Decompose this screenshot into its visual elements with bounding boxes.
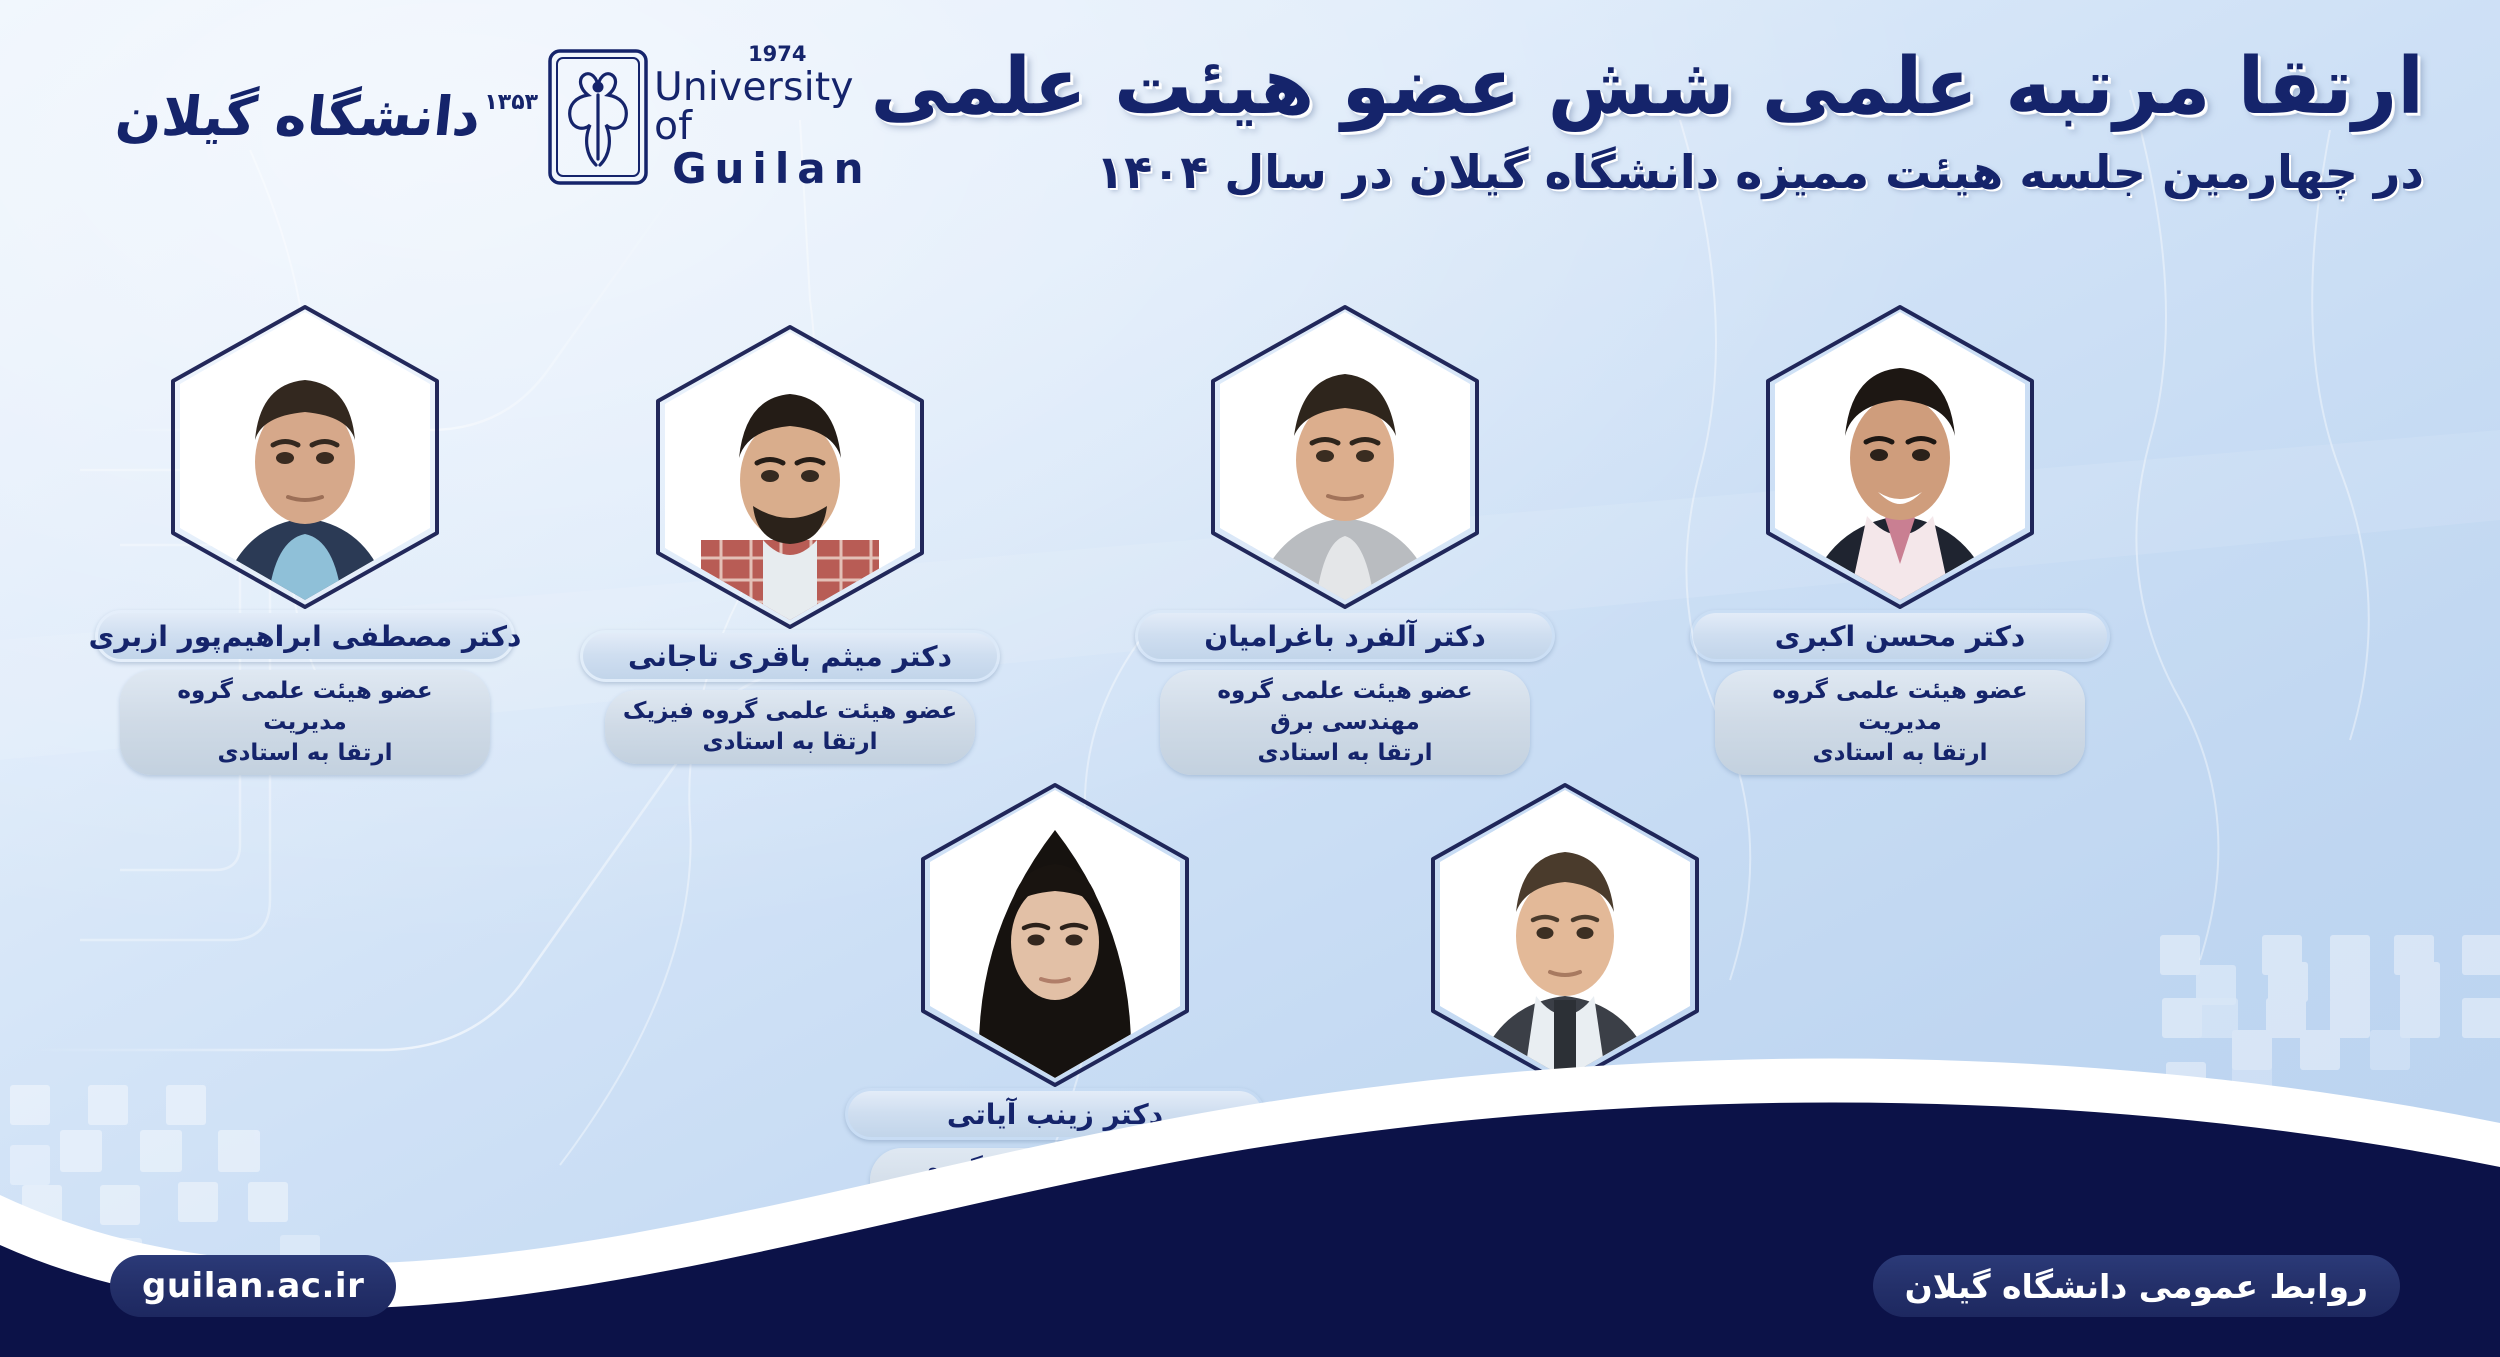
portrait-photo [1775,312,2025,600]
poster-root: دانشگاه گیلان ۱۳۵۳ 1974 University of Gu… [0,0,2500,1357]
faculty-name-plate: دکتر محسن اکبری [1690,610,2110,662]
website-label: guilan.ac.ir [142,1266,364,1306]
portrait-frame [1775,312,2025,600]
faculty-role-line2: ارتقا به استادی [1813,740,1988,766]
faculty-role-line2: ارتقا به استادی [218,740,393,766]
faculty-card: دکتر میثم باقری تاجانی عضو هیئت علمی گرو… [580,332,1000,764]
faculty-name-plate: دکتر مصطفی ابراهیم‌پور ازبری [95,610,515,662]
faculty-name-plate: دکتر میثم باقری تاجانی [580,630,1000,682]
faculty-role-line1: عضو هیئت علمی گروه مهندسی برق [1217,678,1472,735]
faculty-name: دکتر محسن اکبری [1775,620,2026,653]
portrait-frame [665,332,915,620]
faculty-role-line2: ارتقا به استادی [1258,740,1433,766]
faculty-role: عضو هیئت علمی گروه مهندسی برق ارتقا به ا… [1176,676,1514,769]
faculty-role: عضو هیئت علمی گروه فیزیک ارتقا به استادی [623,696,957,758]
portrait-frame [1220,312,1470,600]
faculty-card: دکتر محسن اکبری عضو هیئت علمی گروه مدیری… [1690,312,2110,775]
faculty-name: دکتر میثم باقری تاجانی [628,640,952,673]
faculty-role-plate: عضو هیئت علمی گروه مهندسی برق ارتقا به ا… [1160,670,1530,775]
portrait-photo [665,332,915,620]
faculty-role-plate: عضو هیئت علمی گروه مدیریت ارتقا به استاد… [1715,670,2085,775]
faculty-role: عضو هیئت علمی گروه مدیریت ارتقا به استاد… [1731,676,2069,769]
portrait-photo [1220,312,1470,600]
faculty-name: دکتر آلفرد باغرامیان [1204,620,1485,653]
faculty-card: دکتر آلفرد باغرامیان عضو هیئت علمی گروه … [1135,312,1555,775]
public-relations-label: روابط عمومی دانشگاه گیلان [1905,1267,2368,1306]
faculty-role: عضو هیئت علمی گروه مدیریت ارتقا به استاد… [136,676,474,769]
portrait-photo [180,312,430,600]
faculty-role-line1: عضو هیئت علمی گروه فیزیک [623,698,957,724]
faculty-name: دکتر مصطفی ابراهیم‌پور ازبری [89,620,522,653]
portrait-frame [180,312,430,600]
public-relations-badge: روابط عمومی دانشگاه گیلان [1873,1255,2400,1317]
faculty-role-line1: عضو هیئت علمی گروه مدیریت [1772,678,2027,735]
faculty-role-line2: ارتقا به استادی [703,729,878,755]
faculty-card: دکتر مصطفی ابراهیم‌پور ازبری عضو هیئت عل… [95,312,515,775]
faculty-role-line1: عضو هیئت علمی گروه مدیریت [177,678,432,735]
faculty-name-plate: دکتر آلفرد باغرامیان [1135,610,1555,662]
faculty-role-plate: عضو هیئت علمی گروه مدیریت ارتقا به استاد… [120,670,490,775]
faculty-role-plate: عضو هیئت علمی گروه فیزیک ارتقا به استادی [605,690,975,764]
website-button[interactable]: guilan.ac.ir [110,1255,396,1317]
